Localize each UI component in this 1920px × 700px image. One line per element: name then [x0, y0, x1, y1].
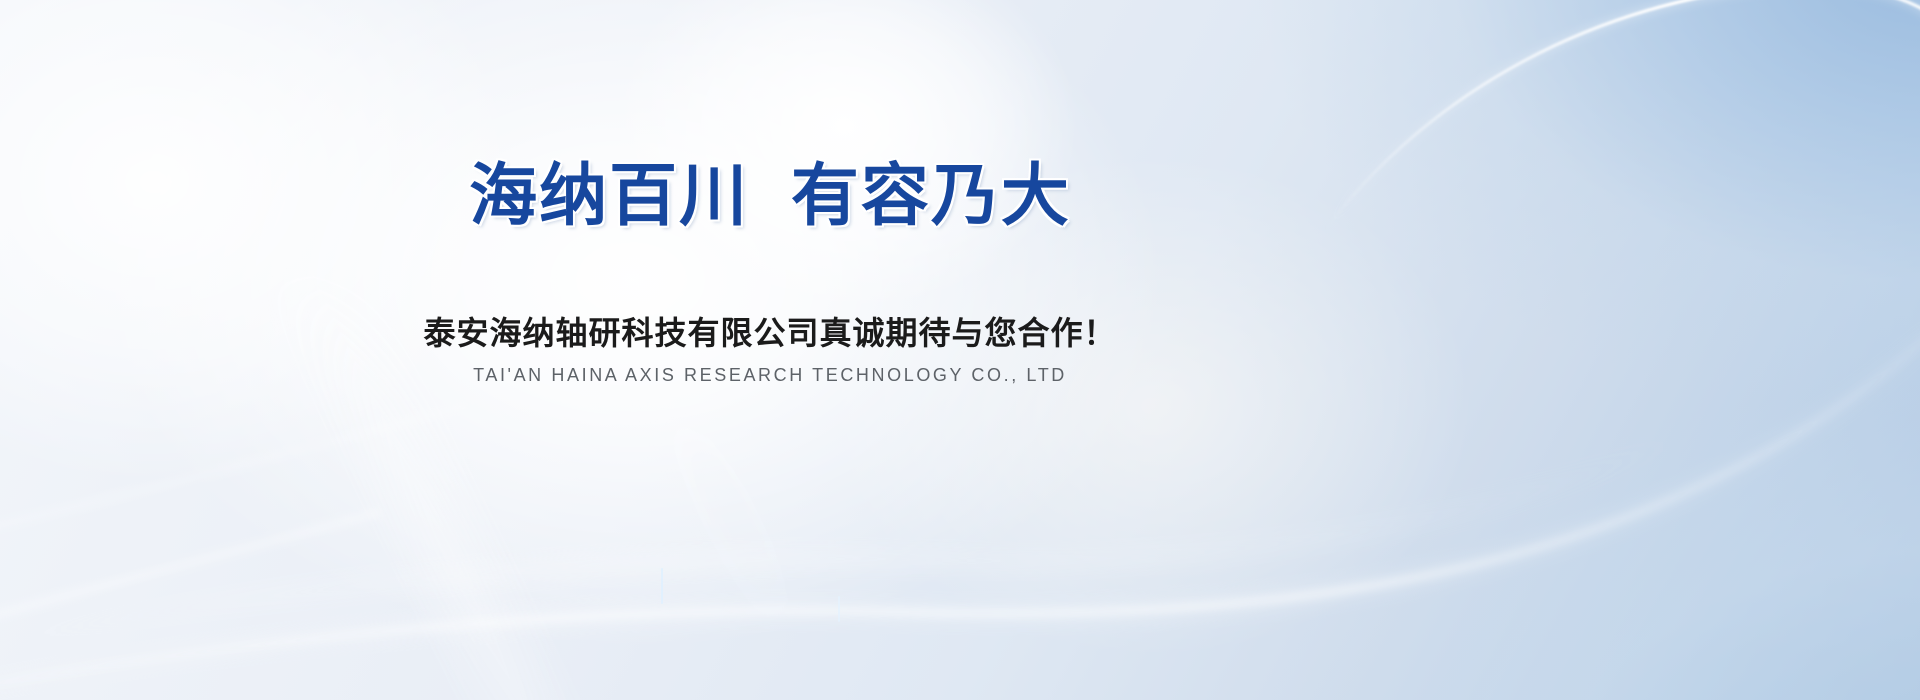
hero-banner: 海纳百川 有容乃大 泰安海纳轴研科技有限公司真诚期待与您合作！ TAI'AN H…: [0, 0, 1920, 700]
banner-subtitle-english: TAI'AN HAINA AXIS RESEARCH TECHNOLOGY CO…: [0, 364, 1540, 387]
banner-headline: 海纳百川 有容乃大: [0, 162, 1540, 230]
banner-subtitle-chinese: 泰安海纳轴研科技有限公司真诚期待与您合作！: [0, 314, 1540, 352]
banner-content: 海纳百川 有容乃大 泰安海纳轴研科技有限公司真诚期待与您合作！ TAI'AN H…: [0, 0, 1920, 700]
